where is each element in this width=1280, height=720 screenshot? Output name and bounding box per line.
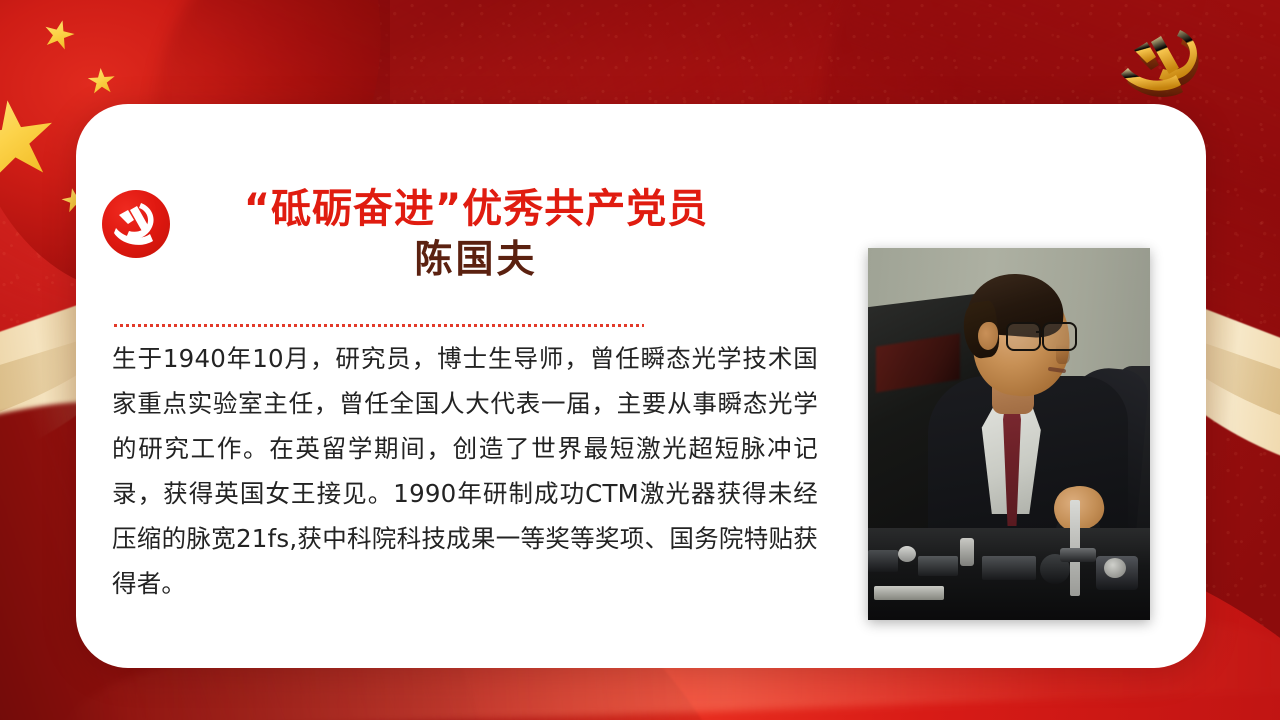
portrait-photo (868, 248, 1150, 620)
photo-optics-arm-1 (1060, 548, 1096, 562)
portrait-photo-frame (868, 248, 1150, 620)
photo-ear (978, 322, 998, 350)
slide-root: “砥砺奋进”优秀共产党员 陈国夫 生于1940年10月，研究员，博士生导师，曾任… (0, 0, 1280, 720)
page-title: “砥砺奋进”优秀共产党员 (186, 186, 766, 233)
photo-optics-post-1 (960, 538, 974, 566)
photo-optical-table (868, 528, 1150, 620)
photo-optics-mount-2 (918, 556, 958, 576)
photo-optics-lens-2 (1104, 558, 1126, 578)
photo-optics-mount-3 (982, 556, 1036, 580)
dotted-divider (114, 324, 644, 327)
photo-optics-mount-1 (868, 550, 898, 572)
person-name: 陈国夫 (186, 235, 766, 283)
biography-text: 生于1940年10月，研究员，博士生导师，曾任瞬态光学技术国家重点实验室主任，曾… (112, 336, 818, 606)
photo-lens-left (1006, 322, 1041, 351)
photo-lens-right (1042, 322, 1077, 351)
cpc-emblem-gold-icon (1118, 26, 1214, 100)
photo-optics-rail (874, 586, 944, 600)
photo-eyeglasses-icon (1006, 322, 1076, 348)
title-block: “砥砺奋进”优秀共产党员 陈国夫 (186, 186, 766, 283)
content-card: “砥砺奋进”优秀共产党员 陈国夫 生于1940年10月，研究员，博士生导师，曾任… (76, 104, 1206, 668)
cpc-badge-icon (102, 190, 170, 258)
photo-optics-lens-1 (898, 546, 916, 562)
